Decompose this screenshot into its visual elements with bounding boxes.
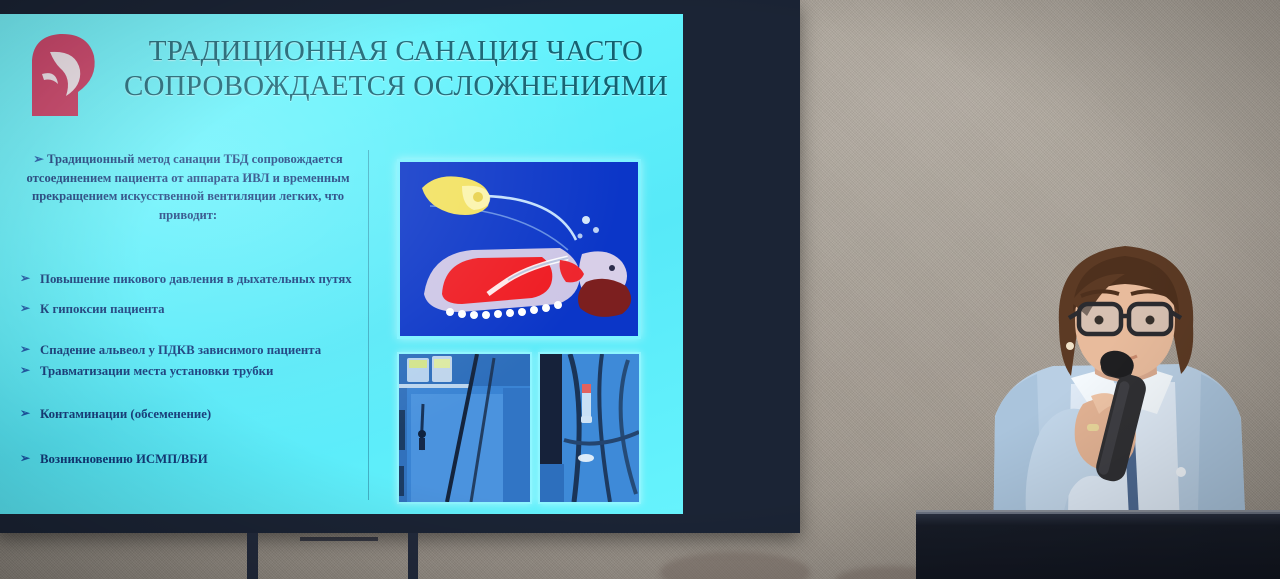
airway-suction-diagram: [397, 159, 641, 339]
slide-title-line-2: СОПРОВОЖДАЕТСЯ ОСЛОЖНЕНИЯМИ: [112, 69, 680, 104]
list-item: ➢ Контаминации (обсеменение): [14, 405, 366, 423]
conference-room-scene: ТРАДИЦИОННАЯ САНАЦИЯ ЧАСТО СОПРОВОЖДАЕТС…: [0, 0, 1280, 579]
list-item: ➢ Возникновению ИСМП/ВБИ: [14, 450, 366, 468]
screen-display-area: ТРАДИЦИОННАЯ САНАЦИЯ ЧАСТО СОПРОВОЖДАЕТС…: [0, 14, 683, 514]
bullet-arrow-icon: ➢: [20, 300, 30, 317]
lectern: [916, 512, 1280, 579]
column-divider: [368, 150, 369, 500]
slide-title-line-1: ТРАДИЦИОННАЯ САНАЦИЯ ЧАСТО: [112, 34, 680, 69]
bullet-arrow-icon: ➢: [20, 270, 30, 287]
list-item-label: Контаминации (обсеменение): [40, 407, 211, 421]
bullet-arrow-icon: ➢: [20, 405, 30, 422]
list-item-label: Возникновению ИСМП/ВБИ: [40, 452, 208, 466]
list-item: ➢ Повышение пикового давления в дыхатель…: [14, 270, 366, 288]
clinical-photo-row: [397, 352, 641, 504]
wall-shadow-line: [300, 537, 378, 541]
list-item-label: Травматизации места установки трубки: [40, 364, 273, 378]
company-logo-icon: [26, 30, 102, 118]
bullet-arrow-icon: ➢: [33, 152, 44, 166]
screen-stand-leg: [247, 533, 258, 579]
slide-title: ТРАДИЦИОННАЯ САНАЦИЯ ЧАСТО СОПРОВОЖДАЕТС…: [112, 34, 680, 103]
bullet-arrow-icon: ➢: [20, 450, 30, 467]
ventilator-equipment-photo: [397, 352, 532, 504]
list-item: ➢ Спадение альвеол у ПДКВ зависимого пац…: [14, 341, 366, 359]
list-item: ➢ К гипоксии пациента: [14, 300, 366, 318]
screen-stand-leg: [408, 533, 418, 579]
list-item-label: Повышение пикового давления в дыхательны…: [40, 272, 352, 286]
bullet-arrow-icon: ➢: [20, 341, 30, 358]
list-item-label: К гипоксии пациента: [40, 302, 165, 316]
list-item-label: Спадение альвеол у ПДКВ зависимого пацие…: [40, 343, 321, 357]
slide-bullet-list: ➢ Повышение пикового давления в дыхатель…: [14, 270, 366, 468]
slide: ТРАДИЦИОННАЯ САНАЦИЯ ЧАСТО СОПРОВОЖДАЕТС…: [0, 14, 683, 514]
bullet-arrow-icon: ➢: [20, 362, 30, 379]
list-item: ➢ Травматизации места установки трубки: [14, 362, 366, 380]
slide-intro-text: ➢ Традиционный метод санации ТБД сопрово…: [18, 150, 358, 224]
speaker: [975, 228, 1275, 558]
presentation-screen: ТРАДИЦИОННАЯ САНАЦИЯ ЧАСТО СОПРОВОЖДАЕТС…: [0, 0, 800, 533]
slide-intro-body: Традиционный метод санации ТБД сопровожд…: [26, 152, 349, 222]
tubing-closeup-photo: [538, 352, 641, 504]
